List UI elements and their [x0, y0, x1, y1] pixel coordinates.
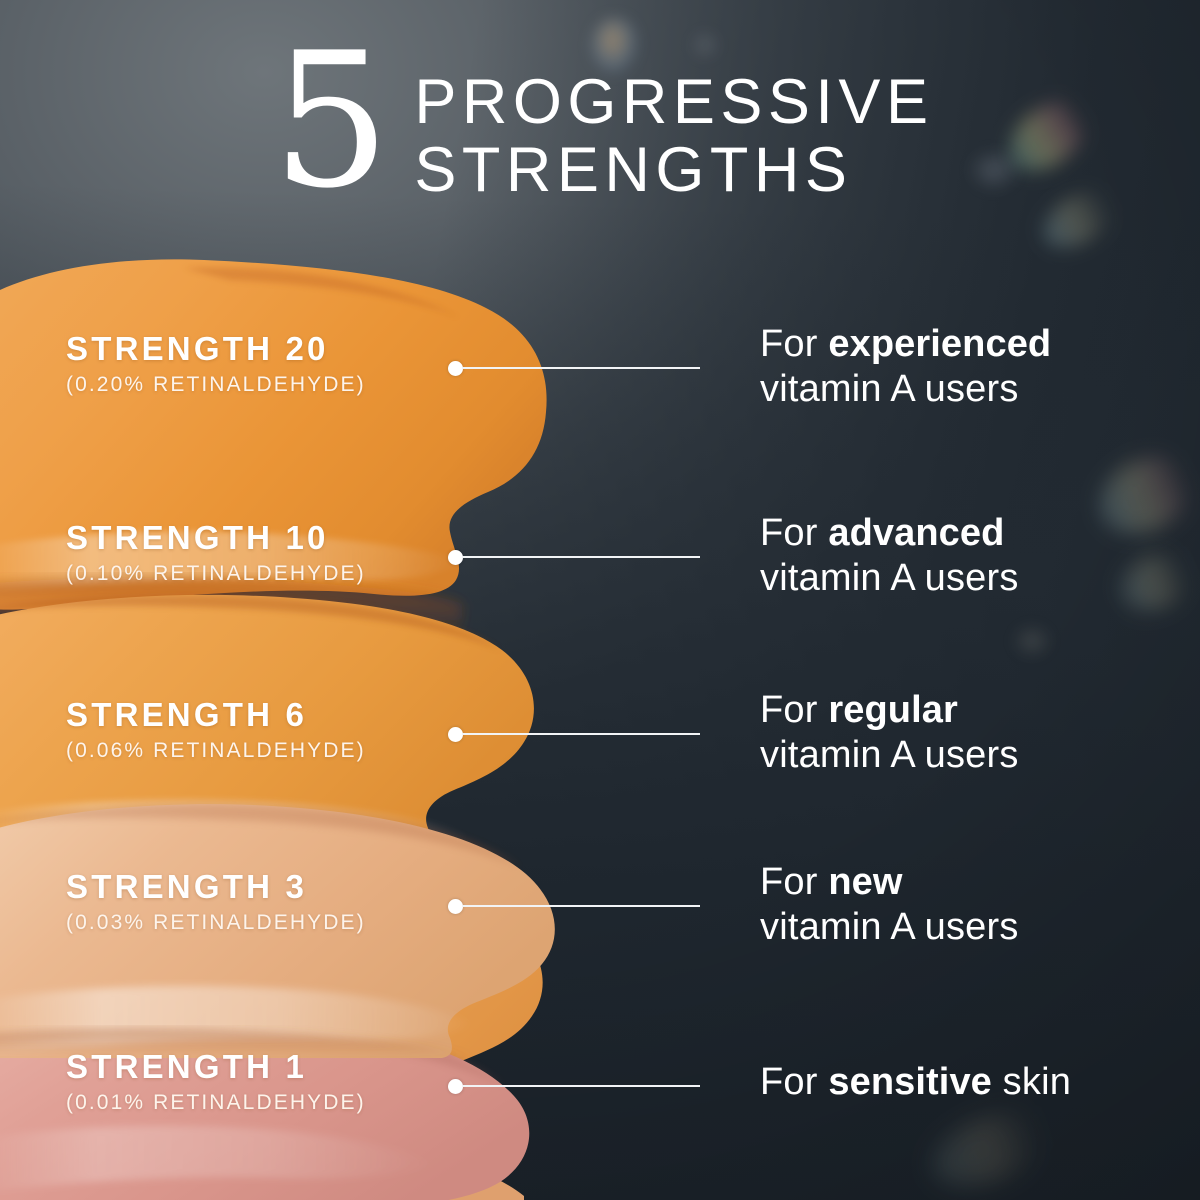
- strength-label-group: STRENGTH 10 (0.10% RETINALDEHYDE): [66, 519, 366, 586]
- strength-label-group: STRENGTH 1 (0.01% RETINALDEHYDE): [66, 1048, 366, 1115]
- page-title: 5 PROGRESSIVE STRENGTHS: [272, 52, 933, 204]
- strength-percent: (0.01% RETINALDEHYDE): [66, 1091, 366, 1115]
- strength-percent: (0.20% RETINALDEHYDE): [66, 373, 366, 397]
- connector-dot-icon: [448, 361, 463, 376]
- callout-text: For new vitamin A users: [760, 860, 1019, 950]
- headline-lines: PROGRESSIVE STRENGTHS: [414, 68, 933, 204]
- callout-text: For sensitive skin: [760, 1060, 1071, 1105]
- strength-row: STRENGTH 10 (0.10% RETINALDEHYDE) For ad…: [0, 519, 1200, 639]
- strength-row: STRENGTH 3 (0.03% RETINALDEHYDE) For new…: [0, 868, 1200, 988]
- strength-percent: (0.10% RETINALDEHYDE): [66, 562, 366, 586]
- callout-line-2: vitamin A users: [760, 733, 1019, 778]
- callout-line-2: vitamin A users: [760, 905, 1019, 950]
- strength-row: STRENGTH 1 (0.01% RETINALDEHYDE) For sen…: [0, 1048, 1200, 1168]
- infographic-canvas: STRENGTH 20 (0.20% RETINALDEHYDE) For ex…: [0, 0, 1200, 1200]
- callout-line-1: For new: [760, 860, 1019, 905]
- strength-label-group: STRENGTH 3 (0.03% RETINALDEHYDE): [66, 868, 366, 935]
- callout-text: For regular vitamin A users: [760, 688, 1019, 778]
- connector-dot-icon: [448, 727, 463, 742]
- strength-title: STRENGTH 20: [66, 330, 366, 368]
- connector-rule: [462, 733, 700, 735]
- strength-row: STRENGTH 20 (0.20% RETINALDEHYDE) For ex…: [0, 330, 1200, 450]
- callout-line-1: For regular: [760, 688, 1019, 733]
- connector-line: [448, 361, 700, 375]
- callout-line-1: For experienced: [760, 322, 1051, 367]
- strength-title: STRENGTH 3: [66, 868, 366, 906]
- strength-title: STRENGTH 1: [66, 1048, 366, 1086]
- callout-line-2: vitamin A users: [760, 556, 1019, 601]
- connector-rule: [462, 367, 700, 369]
- connector-rule: [462, 1085, 700, 1087]
- headline-line-1: PROGRESSIVE: [414, 68, 933, 136]
- strength-label-group: STRENGTH 6 (0.06% RETINALDEHYDE): [66, 696, 366, 763]
- strength-label-group: STRENGTH 20 (0.20% RETINALDEHYDE): [66, 330, 366, 397]
- headline-number: 5: [272, 48, 388, 193]
- headline-line-2: STRENGTHS: [414, 136, 933, 204]
- connector-rule: [462, 556, 700, 558]
- connector-dot-icon: [448, 550, 463, 565]
- connector-line: [448, 550, 700, 564]
- callout-line-1: For advanced: [760, 511, 1019, 556]
- callout-text: For advanced vitamin A users: [760, 511, 1019, 601]
- callout-line-1: For sensitive skin: [760, 1060, 1071, 1105]
- strength-title: STRENGTH 10: [66, 519, 366, 557]
- strength-percent: (0.06% RETINALDEHYDE): [66, 739, 366, 763]
- connector-line: [448, 727, 700, 741]
- connector-dot-icon: [448, 899, 463, 914]
- connector-line: [448, 899, 700, 913]
- strength-row: STRENGTH 6 (0.06% RETINALDEHYDE) For reg…: [0, 696, 1200, 816]
- callout-text: For experienced vitamin A users: [760, 322, 1051, 412]
- callout-line-2: vitamin A users: [760, 367, 1051, 412]
- strength-title: STRENGTH 6: [66, 696, 366, 734]
- connector-line: [448, 1079, 700, 1093]
- strength-percent: (0.03% RETINALDEHYDE): [66, 911, 366, 935]
- connector-rule: [462, 905, 700, 907]
- connector-dot-icon: [448, 1079, 463, 1094]
